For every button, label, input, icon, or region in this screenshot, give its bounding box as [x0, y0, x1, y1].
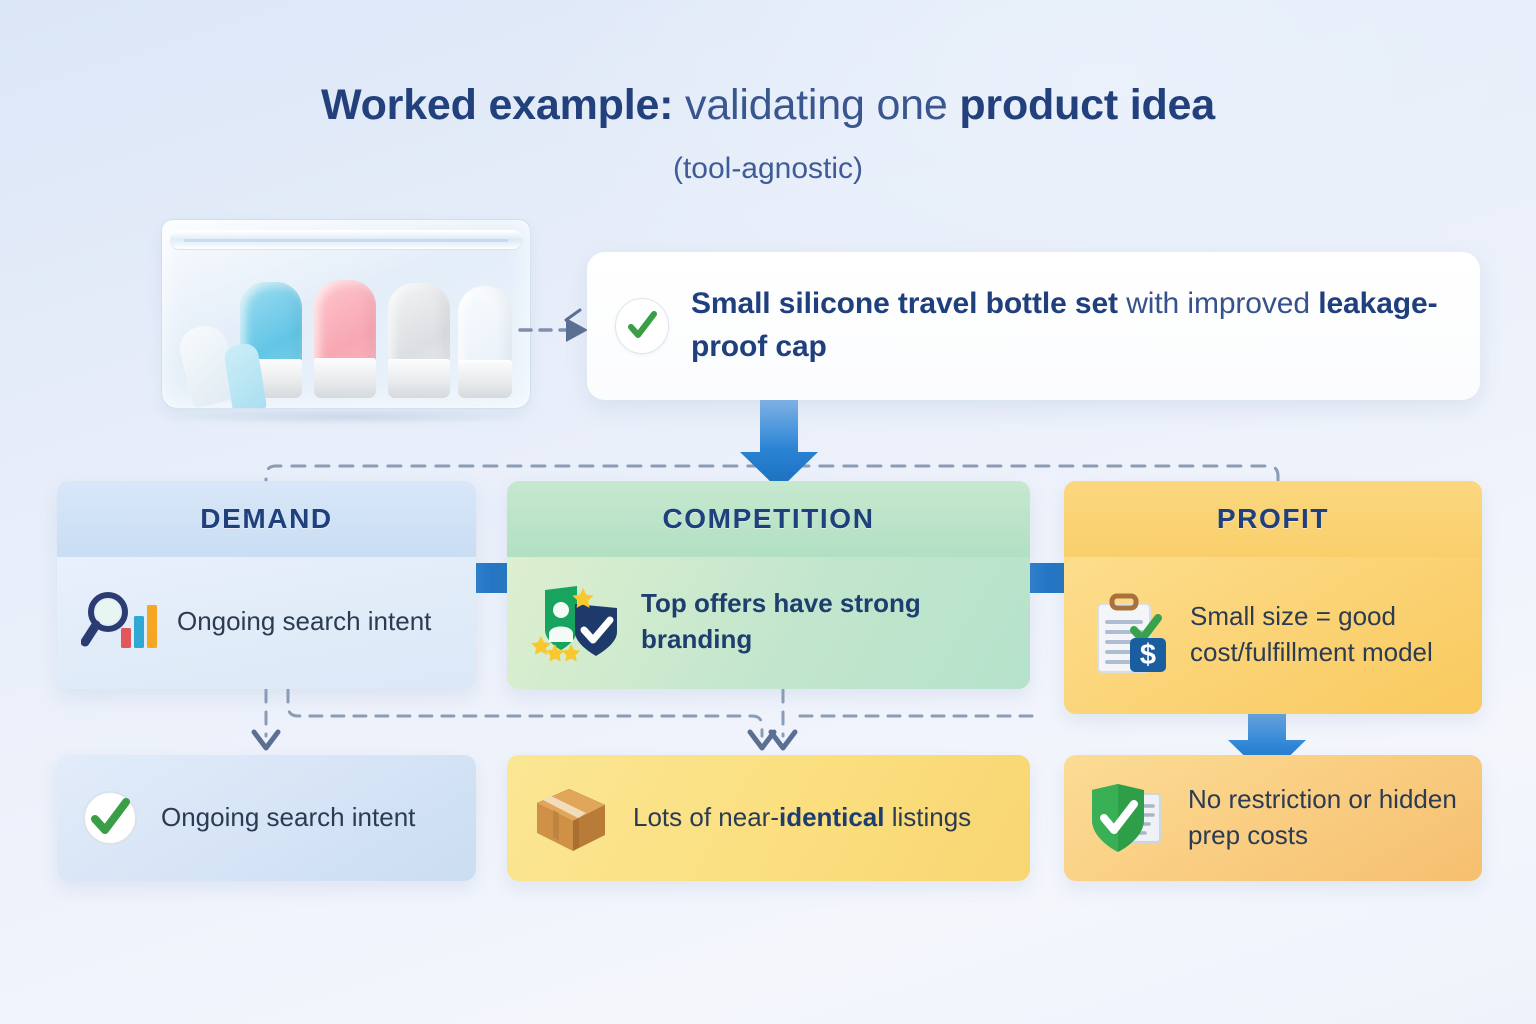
product-idea-bold-1: Small silicone travel bottle set: [691, 287, 1118, 320]
bottom-card-competition-result[interactable]: Lots of near-identical listings: [507, 755, 1030, 881]
column-profit[interactable]: PROFIT $ Small s: [1064, 481, 1482, 714]
column-profit-text: Small size = good cost/fulfillment model: [1190, 599, 1462, 671]
green-check-circle-icon: [79, 787, 141, 849]
page-title-part2: validating one: [673, 81, 959, 129]
column-demand-body: Ongoing search intent: [57, 557, 476, 689]
green-shield-document-icon: [1086, 780, 1168, 856]
page-subtitle: (tool-agnostic): [0, 152, 1536, 186]
clear-zip-pouch: [161, 219, 531, 409]
magnifier-bar-chart-icon: [81, 586, 159, 658]
column-demand-header: DEMAND: [57, 481, 476, 557]
column-competition-body: Top offers have strong branding: [507, 557, 1030, 689]
shield-stars-badge-icon: [531, 582, 623, 662]
cardboard-box-icon: [529, 779, 613, 857]
column-competition[interactable]: COMPETITION Top offers have strong brand…: [507, 481, 1030, 689]
bottle-clear: [458, 286, 512, 398]
column-profit-header: PROFIT: [1064, 481, 1482, 557]
page-title-part3: product idea: [959, 81, 1215, 129]
product-idea-text: Small silicone travel bottle set with im…: [691, 283, 1450, 368]
column-profit-body: $ Small size = good cost/fulfillment mod…: [1064, 557, 1482, 714]
bottle-pink: [314, 280, 376, 398]
bottom-card-profit-result[interactable]: No restriction or hidden prep costs: [1064, 755, 1482, 881]
bottom-card-profit-text: No restriction or hidden prep costs: [1188, 782, 1460, 854]
page-title: Worked example: validating one product i…: [0, 80, 1536, 131]
photo-shadow: [163, 409, 533, 425]
clipboard-dollar-icon: $: [1088, 592, 1172, 678]
column-demand[interactable]: DEMAND Ongoing search intent: [57, 481, 476, 689]
column-demand-text: Ongoing search intent: [177, 604, 431, 640]
green-check-icon: [615, 298, 669, 354]
bottom-card-competition-text: Lots of near-identical listings: [633, 800, 971, 836]
diagram-canvas: Worked example: validating one product i…: [0, 0, 1536, 1024]
zip-seal: [170, 230, 522, 250]
dashed-branch-network: [254, 690, 1040, 748]
blue-arrow-callout-to-row: [740, 400, 818, 490]
bottle-gray: [388, 283, 450, 398]
bottom-card-demand-text: Ongoing search intent: [161, 800, 415, 836]
bottom-card-demand-result[interactable]: Ongoing search intent: [57, 755, 476, 881]
page-title-part1: Worked example:: [321, 81, 673, 129]
product-idea-regular-1: with improved: [1118, 287, 1318, 320]
column-competition-header: COMPETITION: [507, 481, 1030, 557]
column-competition-text: Top offers have strong branding: [641, 586, 1010, 658]
svg-text:$: $: [1140, 639, 1156, 671]
product-photo: [143, 213, 551, 421]
product-idea-callout: Small silicone travel bottle set with im…: [587, 252, 1480, 400]
